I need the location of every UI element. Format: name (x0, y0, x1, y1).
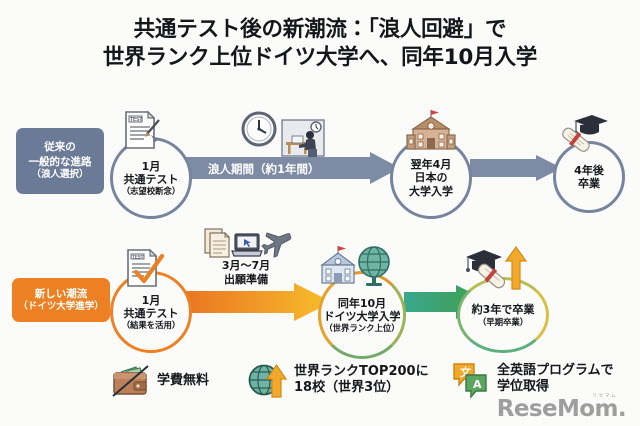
node-line2: 共通テスト (124, 173, 179, 186)
title-line-1: 共通テスト後の新潮流：「浪人回避」で (0, 16, 640, 44)
row-label-traditional-line2: 一般的な進路 (29, 155, 92, 169)
feature-world-rank-top200: 世界ランクTOP200に 18校（世界3位） (247, 361, 429, 399)
feature-line2: 18校（世界3位） (294, 380, 429, 396)
school-building-icon (405, 108, 457, 154)
row-label-traditional: 従来の 一般的な進路 （浪人選択） (16, 128, 104, 194)
row-label-traditional-line1: 従来の (44, 140, 76, 154)
caption-line1: 3月〜7月 (188, 259, 304, 273)
airplane-icon (262, 230, 292, 258)
arrow-ronin-period-label: 浪人期間（約1年間） (208, 161, 320, 177)
feature-line1: 学費無料 (157, 373, 209, 388)
node-line2: 共通テスト (124, 307, 179, 320)
title-line-2: 世界ランク上位ドイツ大学へ、同年10月入学 (0, 44, 640, 72)
svg-text:TEST: TEST (131, 254, 144, 260)
caption-line2: 出願準備 (188, 273, 304, 287)
arrow-to-graduation (470, 155, 562, 181)
feature-line1: 全英語プログラムで (497, 363, 614, 379)
svg-text:TEST: TEST (129, 117, 143, 123)
node-line1: 翌年4月 (411, 158, 452, 171)
node-line1: 約3年で卒業 (472, 303, 535, 316)
row-label-new-line2: （ドイツ大学進学） (18, 301, 104, 314)
node-line2: （早期卒業） (478, 317, 528, 327)
row-label-new-line1: 新しい潮流 (35, 287, 88, 301)
globe-arrow-icon (247, 361, 287, 399)
node-line3: 大学入学 (409, 185, 453, 198)
node-line1: 1月 (142, 160, 161, 173)
node-line1: 4年後 (574, 164, 604, 177)
feature-free-tuition: 学費無料 (112, 365, 209, 397)
page-title: 共通テスト後の新潮流：「浪人回避」で 世界ランク上位ドイツ大学へ、同年10月入学 (0, 16, 640, 73)
node-line1: 同年10月 (338, 297, 386, 310)
translation-bubbles-icon: 文 A (452, 361, 490, 397)
node-line3: （世界ランク上位） (324, 323, 399, 333)
node-line3: （志望校断念） (122, 186, 181, 196)
node-line2: 卒業 (578, 177, 600, 190)
node-line2: ドイツ大学入学 (324, 310, 401, 323)
graduation-cap-diploma-icon (556, 110, 608, 156)
test-paper-pencil-icon: TEST (118, 108, 164, 154)
feature-line1: 世界ランクTOP200に (294, 364, 429, 380)
row-label-new-trend: 新しい潮流 （ドイツ大学進学） (12, 278, 110, 322)
school-globe-icon (320, 243, 396, 291)
clock-icon (240, 110, 278, 148)
feature-all-english-label: 全英語プログラムで 学位取得 (497, 363, 614, 395)
feature-world-rank-label: 世界ランクTOP200に 18校（世界3位） (294, 364, 429, 396)
svg-text:A: A (473, 378, 482, 391)
watermark-text: ReseMom. (497, 396, 626, 422)
test-paper-check-icon: TEST (120, 246, 166, 292)
documents-icon (203, 227, 231, 259)
node-line2: 日本の (415, 171, 448, 184)
wallet-no-fee-icon (112, 365, 150, 397)
node-line1: 1月 (142, 294, 161, 307)
caption-application-prep: 3月〜7月 出願準備 (188, 259, 304, 287)
feature-free-tuition-label: 学費無料 (157, 373, 209, 389)
row-label-traditional-line3: （浪人選択） (31, 169, 88, 182)
feature-all-english-program: 文 A 全英語プログラムで 学位取得 (452, 361, 614, 397)
infographic-canvas: 共通テスト後の新潮流：「浪人回避」で 世界ランク上位ドイツ大学へ、同年10月入学… (0, 0, 640, 426)
watermark: リセマム ReseMom. (497, 394, 626, 421)
studying-person-icon (280, 118, 326, 158)
graduation-cap-arrow-icon (462, 243, 528, 293)
laptop-icon (231, 232, 263, 259)
node-line3: （結果を活用） (122, 320, 181, 330)
